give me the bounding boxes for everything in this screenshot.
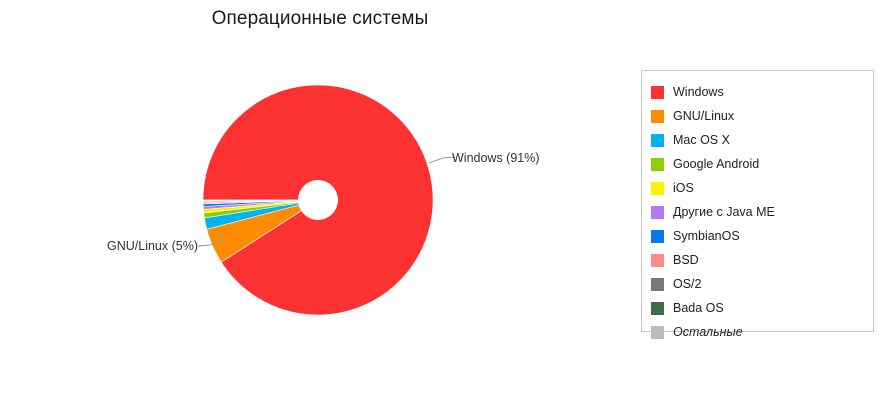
legend-swatch-icon: [651, 302, 664, 315]
pie-plot-area: Windows (91%) GNU/Linux (5%): [0, 0, 640, 411]
legend-swatch-icon: [651, 110, 664, 123]
legend-item[interactable]: GNU/Linux: [651, 104, 865, 128]
legend-item[interactable]: Остальные: [651, 320, 865, 344]
legend-item[interactable]: SymbianOS: [651, 224, 865, 248]
legend-swatch-icon: [651, 326, 664, 339]
legend-swatch-icon: [651, 206, 664, 219]
legend: WindowsGNU/LinuxMac OS XGoogle AndroidiO…: [641, 70, 874, 332]
pie-slices-svg: [0, 0, 640, 411]
legend-swatch-icon: [651, 158, 664, 171]
legend-item[interactable]: Bada OS: [651, 296, 865, 320]
legend-swatch-icon: [651, 230, 664, 243]
legend-item[interactable]: Google Android: [651, 152, 865, 176]
legend-item-label: iOS: [673, 182, 694, 195]
legend-item[interactable]: BSD: [651, 248, 865, 272]
legend-item-label: Остальные: [673, 326, 743, 339]
legend-items-list: WindowsGNU/LinuxMac OS XGoogle AndroidiO…: [651, 80, 865, 344]
donut-hole: [298, 180, 338, 220]
legend-item-label: Mac OS X: [673, 134, 730, 147]
legend-swatch-icon: [651, 182, 664, 195]
legend-item-label: SymbianOS: [673, 230, 740, 243]
legend-swatch-icon: [651, 254, 664, 267]
legend-swatch-icon: [651, 134, 664, 147]
legend-item[interactable]: Windows: [651, 80, 865, 104]
legend-item-label: Другие с Java ME: [673, 206, 775, 219]
legend-item[interactable]: OS/2: [651, 272, 865, 296]
legend-item-label: BSD: [673, 254, 699, 267]
legend-item-label: Google Android: [673, 158, 759, 171]
slice-label-gnulinux: GNU/Linux (5%): [107, 239, 198, 253]
legend-item[interactable]: Другие с Java ME: [651, 200, 865, 224]
pie-chart-figure: Операционные системы Windows (91%) GNU/L…: [0, 0, 894, 411]
legend-swatch-icon: [651, 278, 664, 291]
legend-item-label: OS/2: [673, 278, 702, 291]
legend-item[interactable]: iOS: [651, 176, 865, 200]
legend-item-label: GNU/Linux: [673, 110, 734, 123]
legend-item[interactable]: Mac OS X: [651, 128, 865, 152]
legend-item-label: Windows: [673, 86, 724, 99]
slice-label-windows: Windows (91%): [452, 151, 540, 165]
legend-item-label: Bada OS: [673, 302, 724, 315]
legend-swatch-icon: [651, 86, 664, 99]
